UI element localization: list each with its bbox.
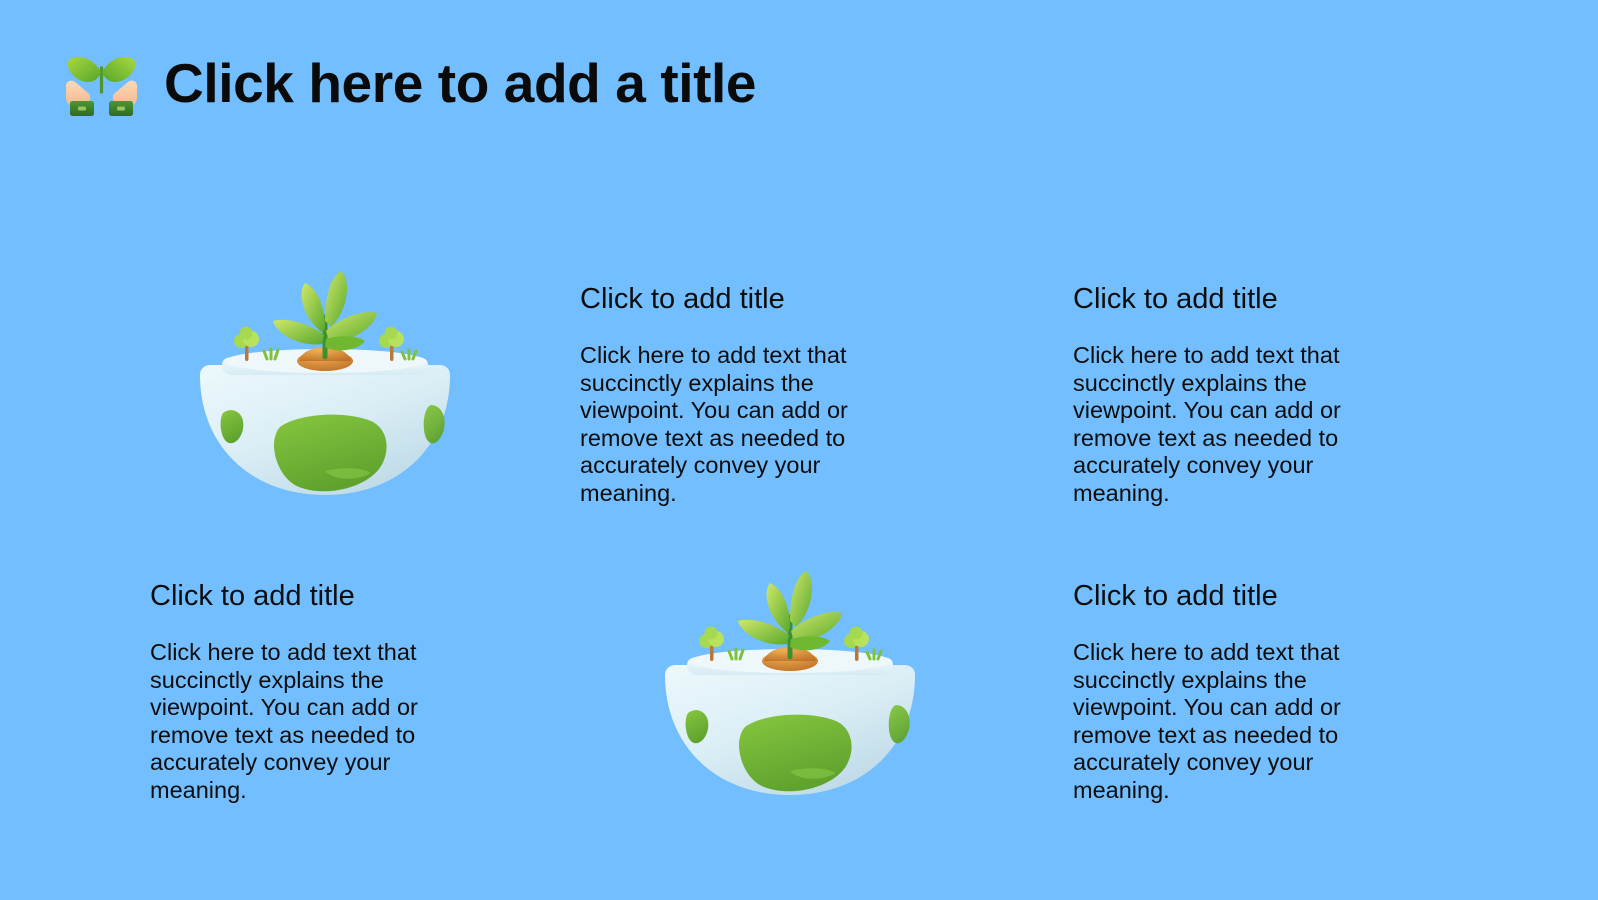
- block-title: Click to add title: [1073, 580, 1393, 613]
- content-block-top-middle[interactable]: Click to add title Click here to add tex…: [580, 283, 900, 507]
- half-globe-with-seedling-illustration: [175, 265, 475, 525]
- content-block-bottom-right[interactable]: Click to add title Click here to add tex…: [1073, 580, 1393, 804]
- half-globe-with-seedling-illustration: [640, 565, 940, 825]
- content-grid: Click to add title Click here to add tex…: [0, 250, 1598, 850]
- block-body: Click here to add text that succinctly e…: [1073, 639, 1348, 804]
- block-body: Click here to add text that succinctly e…: [1073, 342, 1348, 507]
- page-title: Click here to add a title: [164, 55, 756, 113]
- block-title: Click to add title: [580, 283, 900, 316]
- content-block-bottom-left[interactable]: Click to add title Click here to add tex…: [150, 580, 470, 804]
- slide-canvas: Click here to add a title: [0, 0, 1598, 900]
- slide-title-placeholder[interactable]: Click here to add a title: [58, 48, 756, 120]
- illustration-top-left: [175, 265, 475, 525]
- illustration-bottom-middle: [640, 565, 940, 825]
- content-block-top-right[interactable]: Click to add title Click here to add tex…: [1073, 283, 1393, 507]
- block-body: Click here to add text that succinctly e…: [580, 342, 855, 507]
- block-body: Click here to add text that succinctly e…: [150, 639, 425, 804]
- block-title: Click to add title: [150, 580, 470, 613]
- block-title: Click to add title: [1073, 283, 1393, 316]
- hands-holding-seedling-icon: [58, 48, 146, 120]
